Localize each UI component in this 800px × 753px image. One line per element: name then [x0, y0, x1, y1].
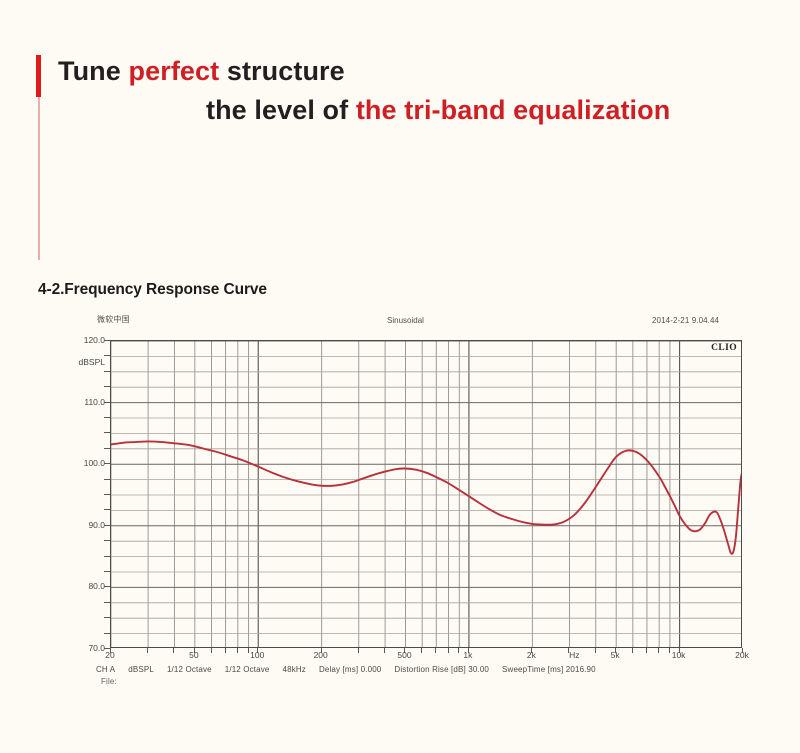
- x-tick-label: 200: [314, 650, 328, 660]
- headline-text-1-red: perfect: [129, 56, 220, 86]
- x-tick-label: 10k: [672, 650, 686, 660]
- status-row: CH AdBSPL1/12 Octave1/12 Octave48kHzDela…: [96, 665, 609, 674]
- x-axis-labels: 20501002005001k2kHz5k10k20k: [0, 650, 800, 666]
- status-unit: dBSPL: [128, 665, 154, 674]
- status-resolution-1: 1/12 Octave: [167, 665, 212, 674]
- status-sweeptime: SweepTime [ms] 2016.90: [502, 665, 596, 674]
- y-axis-unit-label: dBSPL: [79, 357, 105, 367]
- chart-meta-title: Sinusoidal: [387, 316, 424, 325]
- chart-meta-left: 微软中国: [97, 314, 130, 325]
- response-curve: [111, 341, 742, 648]
- curve-path: [111, 441, 742, 553]
- plot-area: CLIO: [110, 340, 742, 648]
- y-tick-label: 90.0: [88, 520, 105, 530]
- headline-text-2a: the level of: [206, 95, 356, 125]
- accent-tail-line: [38, 97, 40, 260]
- headline-text-1a: Tune: [58, 56, 129, 86]
- y-tick-label: 100.0: [84, 458, 105, 468]
- y-axis-labels: 120.0110.0100.090.080.070.0dBSPL: [58, 330, 105, 660]
- headline-text-2-red: the tri-band equalization: [356, 95, 671, 125]
- x-tick-label: 100: [250, 650, 264, 660]
- status-delay: Delay [ms] 0.000: [319, 665, 381, 674]
- headline-line-2: the level of the tri-band equalization: [58, 91, 788, 130]
- y-tick-label: 120.0: [84, 335, 105, 345]
- x-tick-label: 20: [105, 650, 114, 660]
- headline-line-1: Tune perfect structure: [58, 52, 788, 91]
- y-tick-label: 110.0: [84, 397, 105, 407]
- section-title: 4-2.Frequency Response Curve: [38, 281, 267, 299]
- x-tick-label: 2k: [527, 650, 536, 660]
- x-tick-label: 50: [189, 650, 198, 660]
- chart-meta-timestamp: 2014-2-21 9.04.44: [652, 316, 719, 325]
- x-tick-label: 500: [397, 650, 411, 660]
- x-tick-label: Hz: [569, 650, 579, 660]
- clio-logo: CLIO: [711, 343, 737, 353]
- status-distortion: Distortion Rise [dB] 30.00: [394, 665, 489, 674]
- status-samplerate: 48kHz: [283, 665, 306, 674]
- status-resolution-2: 1/12 Octave: [225, 665, 270, 674]
- slide-headline: Tune perfect structure the level of the …: [58, 52, 788, 130]
- headline-text-1b: structure: [219, 56, 345, 86]
- accent-bar: [36, 55, 41, 97]
- x-tick-label: 20k: [735, 650, 749, 660]
- x-tick-label: 5k: [611, 650, 620, 660]
- y-tick-label: 80.0: [88, 581, 105, 591]
- x-tick-label: 1k: [463, 650, 472, 660]
- file-row: File:: [101, 677, 117, 686]
- status-channel: CH A: [96, 665, 115, 674]
